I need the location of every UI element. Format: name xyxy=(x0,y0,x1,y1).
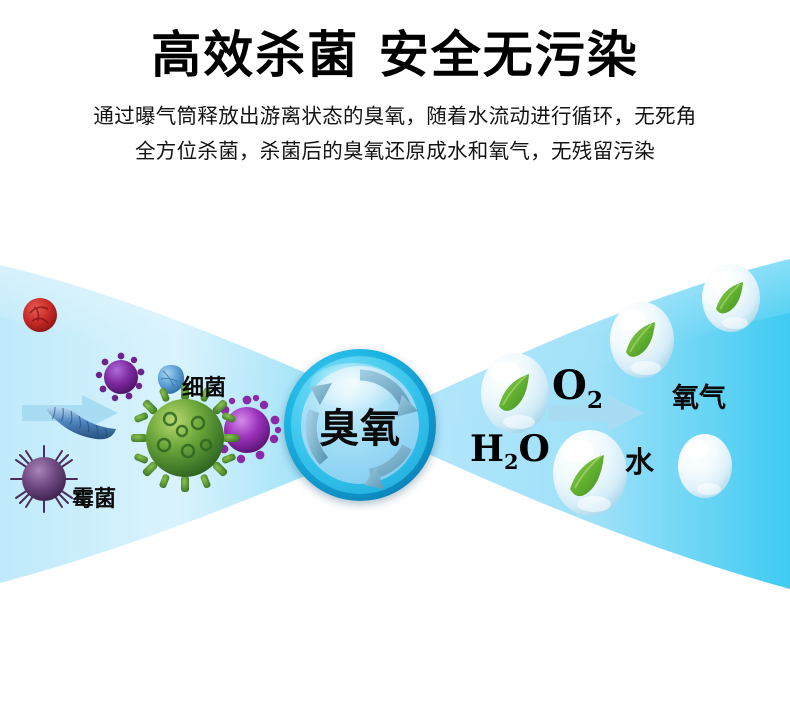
ozone-process-diagram: 臭氧 xyxy=(0,243,790,603)
label-water: 水 xyxy=(625,439,654,481)
label-mold: 霉菌 xyxy=(72,481,116,513)
red-blob-microbe xyxy=(20,295,60,339)
h2o-o: O xyxy=(519,428,550,470)
o2-element: O xyxy=(552,362,587,409)
leaf-bubble-1 xyxy=(479,352,551,438)
leaf-bubble-3 xyxy=(700,263,762,337)
formula-o2: O2 xyxy=(552,362,603,414)
formula-h2o: H2O xyxy=(470,428,550,474)
label-bacteria: 细菌 xyxy=(182,370,226,402)
plain-bubble-1 xyxy=(676,433,734,503)
ozone-sphere: 臭氧 xyxy=(284,349,436,501)
h2o-subscript: 2 xyxy=(504,449,519,474)
blue-bacillus-worm xyxy=(42,401,120,449)
page-title: 高效杀菌 安全无污染 xyxy=(0,0,790,85)
header: 高效杀菌 安全无污染 通过曝气筒释放出游离状态的臭氧，随着水流动进行循环，无死角… xyxy=(0,0,790,170)
o2-subscript: 2 xyxy=(587,387,603,414)
ozone-center-label: 臭氧 xyxy=(284,349,436,501)
h2o-h: H xyxy=(470,428,504,470)
subtitle-line-1: 通过曝气筒释放出游离状态的臭氧，随着水流动进行循环，无死角 xyxy=(10,85,780,134)
product-infographic-page: 高效杀菌 安全无污染 通过曝气筒释放出游离状态的臭氧，随着水流动进行循环，无死角… xyxy=(0,0,790,706)
label-oxygen: 氧气 xyxy=(672,376,726,415)
dark-purple-spiky-mold xyxy=(8,443,80,519)
subtitle-line-2: 全方位杀菌，杀菌后的臭氧还原成水和氧气，无残留污染 xyxy=(10,134,780,169)
leaf-bubble-4 xyxy=(551,429,629,521)
leaf-bubble-2 xyxy=(608,301,676,383)
